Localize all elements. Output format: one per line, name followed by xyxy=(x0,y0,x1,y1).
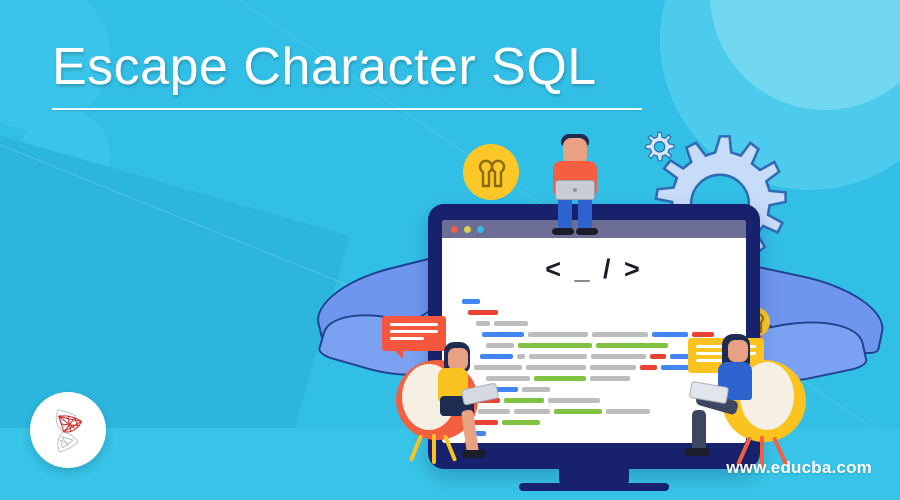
code-segment xyxy=(534,376,586,381)
person-top-laptop-logo xyxy=(573,188,577,192)
person-right-head xyxy=(728,340,748,362)
title-underline xyxy=(52,108,642,110)
website-url: www.educba.com xyxy=(726,458,872,478)
lightbulb-left-icon xyxy=(460,142,522,204)
illustration: < _ / > xyxy=(300,120,900,500)
person-left-head xyxy=(448,348,468,370)
person-left-leg xyxy=(461,409,479,454)
code-segment xyxy=(548,398,600,403)
code-segment xyxy=(482,332,524,337)
chair-leg xyxy=(409,434,423,461)
code-segment xyxy=(476,321,490,326)
person-right-shoe xyxy=(684,448,710,456)
code-segment xyxy=(468,310,498,315)
code-line xyxy=(452,320,736,327)
code-line xyxy=(452,298,736,305)
code-line xyxy=(452,309,736,316)
sql-server-logo-icon xyxy=(41,403,95,457)
page-title: Escape Character SQL xyxy=(52,38,692,96)
person-top-developer xyxy=(538,128,612,232)
monitor-foot xyxy=(519,483,669,491)
bubble-line xyxy=(390,323,438,326)
code-segment xyxy=(494,321,528,326)
code-segment xyxy=(606,409,650,414)
code-segment xyxy=(522,387,550,392)
code-segment xyxy=(650,354,666,359)
minimize-dot-icon[interactable] xyxy=(464,226,471,233)
code-segment xyxy=(514,409,550,414)
person-top-shoe-left xyxy=(552,228,574,235)
code-segment xyxy=(592,332,648,337)
maximize-dot-icon[interactable] xyxy=(477,226,484,233)
code-segment xyxy=(528,332,588,337)
code-symbol: < _ / > xyxy=(442,254,746,285)
code-segment xyxy=(590,376,630,381)
code-segment xyxy=(596,343,668,348)
code-segment xyxy=(554,409,602,414)
bubble-line xyxy=(390,330,438,333)
person-right-leg-lower xyxy=(692,410,706,452)
person-left-shoe xyxy=(462,450,486,458)
chair-leg xyxy=(432,434,436,464)
person-left-on-chair xyxy=(392,338,512,470)
code-segment xyxy=(640,365,657,370)
person-top-shoe-right xyxy=(576,228,598,235)
close-dot-icon[interactable] xyxy=(451,226,458,233)
person-right-on-chair xyxy=(678,332,808,472)
sql-server-logo xyxy=(30,392,106,468)
chair-leg xyxy=(443,434,457,461)
code-segment xyxy=(529,354,587,359)
code-segment xyxy=(526,365,586,370)
code-segment xyxy=(590,365,636,370)
title-block: Escape Character SQL xyxy=(52,38,692,110)
gear-small-icon xyxy=(638,130,678,170)
code-segment xyxy=(591,354,646,359)
code-segment xyxy=(518,343,592,348)
code-segment xyxy=(462,299,480,304)
code-segment xyxy=(517,354,525,359)
banner-root: Escape Character SQL xyxy=(0,0,900,500)
